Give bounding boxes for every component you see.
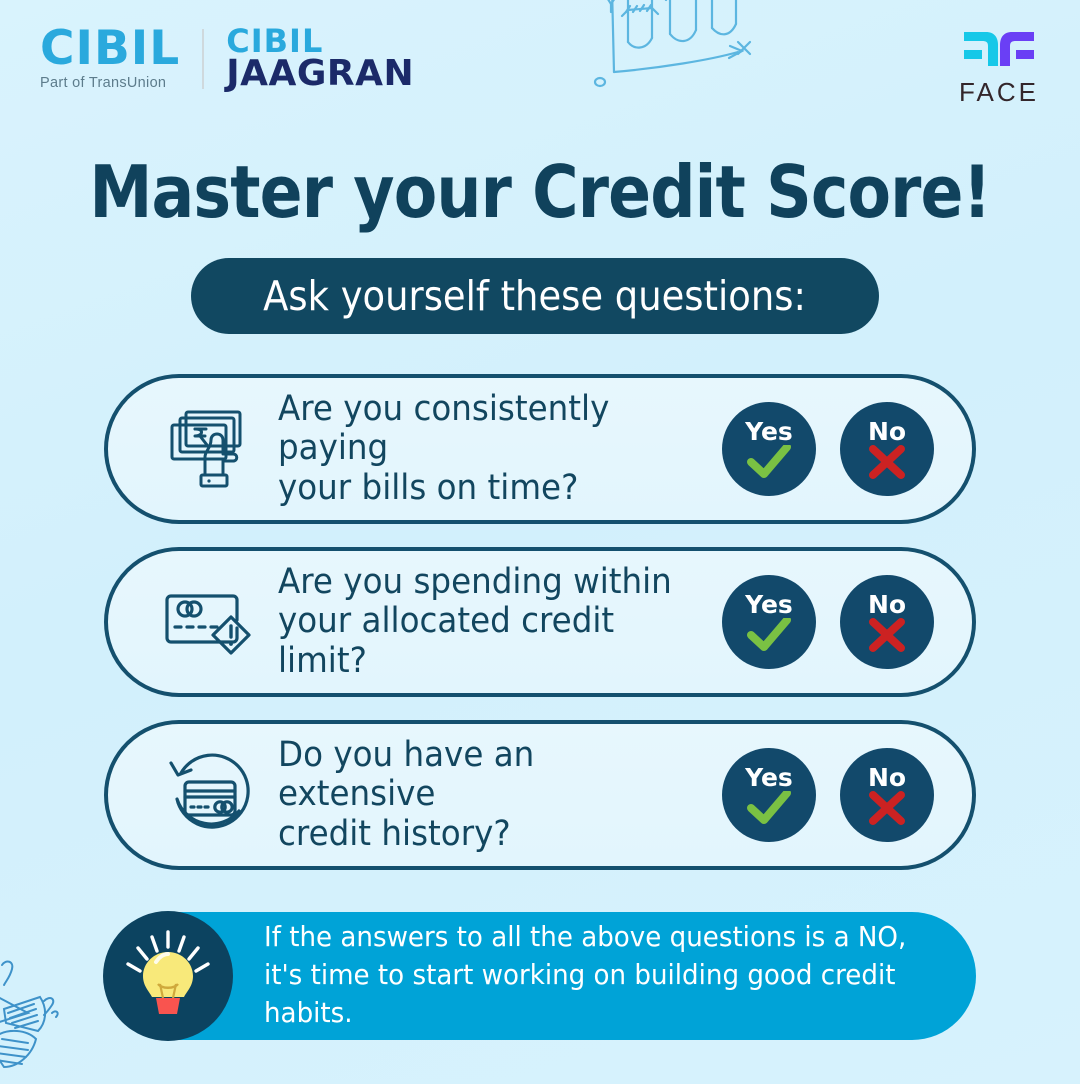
answer-yes-button[interactable]: Yes bbox=[722, 748, 816, 842]
callout-line-2: it's time to start working on building g… bbox=[264, 957, 940, 1033]
cross-icon bbox=[867, 791, 907, 825]
check-icon bbox=[747, 791, 791, 825]
question-card[interactable]: Are you consistently paying your bills o… bbox=[104, 374, 976, 524]
answer-yes-button[interactable]: Yes bbox=[722, 402, 816, 496]
subtitle-pill: Ask yourself these questions: bbox=[191, 258, 879, 334]
question-text: Are you spending within your allocated c… bbox=[278, 563, 691, 682]
no-label: No bbox=[868, 765, 906, 790]
lightbulb-icon bbox=[103, 911, 233, 1041]
question-line-1: Do you have an extensive bbox=[278, 736, 691, 815]
infographic-canvas: CIBIL Part of TransUnion CIBIL JAAGRAN F… bbox=[0, 0, 1080, 1080]
answer-yes-button[interactable]: Yes bbox=[722, 575, 816, 669]
callout-line-1: If the answers to all the above question… bbox=[264, 919, 940, 957]
callout-banner: If the answers to all the above question… bbox=[104, 912, 976, 1040]
logo-divider bbox=[202, 29, 204, 89]
answer-options: Yes No bbox=[722, 575, 934, 669]
check-icon bbox=[747, 445, 791, 479]
face-wordmark: FACE bbox=[958, 77, 1040, 108]
hand-drawn-pie-chart-sketch bbox=[0, 951, 114, 1084]
credit-card-alert-icon bbox=[150, 584, 268, 660]
credit-card-history-icon bbox=[150, 751, 268, 839]
question-card[interactable]: Are you spending within your allocated c… bbox=[104, 547, 976, 697]
cross-icon bbox=[867, 618, 907, 652]
subtitle-text: Ask yourself these questions: bbox=[264, 272, 807, 320]
yes-label: Yes bbox=[745, 592, 793, 617]
yes-label: Yes bbox=[745, 419, 793, 444]
jaagran-line2: JAAGRAN bbox=[226, 57, 414, 92]
header: CIBIL Part of TransUnion CIBIL JAAGRAN F… bbox=[0, 0, 1080, 130]
question-line-1: Are you spending within bbox=[278, 563, 691, 603]
hand-holding-rupee-notes-icon bbox=[150, 406, 268, 492]
question-text: Do you have an extensive credit history? bbox=[278, 736, 691, 855]
answer-options: Yes No bbox=[722, 402, 934, 496]
face-logo: FACE bbox=[958, 24, 1040, 108]
face-wings-icon bbox=[958, 24, 1040, 70]
question-line-1: Are you consistently paying bbox=[278, 390, 691, 469]
check-icon bbox=[747, 618, 791, 652]
question-line-2: your bills on time? bbox=[278, 469, 691, 509]
answer-no-button[interactable]: No bbox=[840, 402, 934, 496]
question-line-2: your allocated credit limit? bbox=[278, 602, 691, 681]
cibil-jaagran-logo: CIBIL JAAGRAN bbox=[226, 26, 414, 91]
cibil-logo: CIBIL Part of TransUnion CIBIL JAAGRAN bbox=[40, 26, 414, 91]
question-text: Are you consistently paying your bills o… bbox=[278, 390, 691, 509]
answer-options: Yes No bbox=[722, 748, 934, 842]
answer-no-button[interactable]: No bbox=[840, 575, 934, 669]
callout-text: If the answers to all the above question… bbox=[264, 919, 940, 1033]
answer-no-button[interactable]: No bbox=[840, 748, 934, 842]
question-line-2: credit history? bbox=[278, 815, 691, 855]
yes-label: Yes bbox=[745, 765, 793, 790]
no-label: No bbox=[868, 592, 906, 617]
question-card[interactable]: Do you have an extensive credit history?… bbox=[104, 720, 976, 870]
cibil-wordmark: CIBIL bbox=[40, 26, 180, 72]
cibil-tagline: Part of TransUnion bbox=[40, 75, 180, 91]
cross-icon bbox=[867, 445, 907, 479]
page-title: Master your Credit Score! bbox=[65, 150, 1015, 234]
no-label: No bbox=[868, 419, 906, 444]
